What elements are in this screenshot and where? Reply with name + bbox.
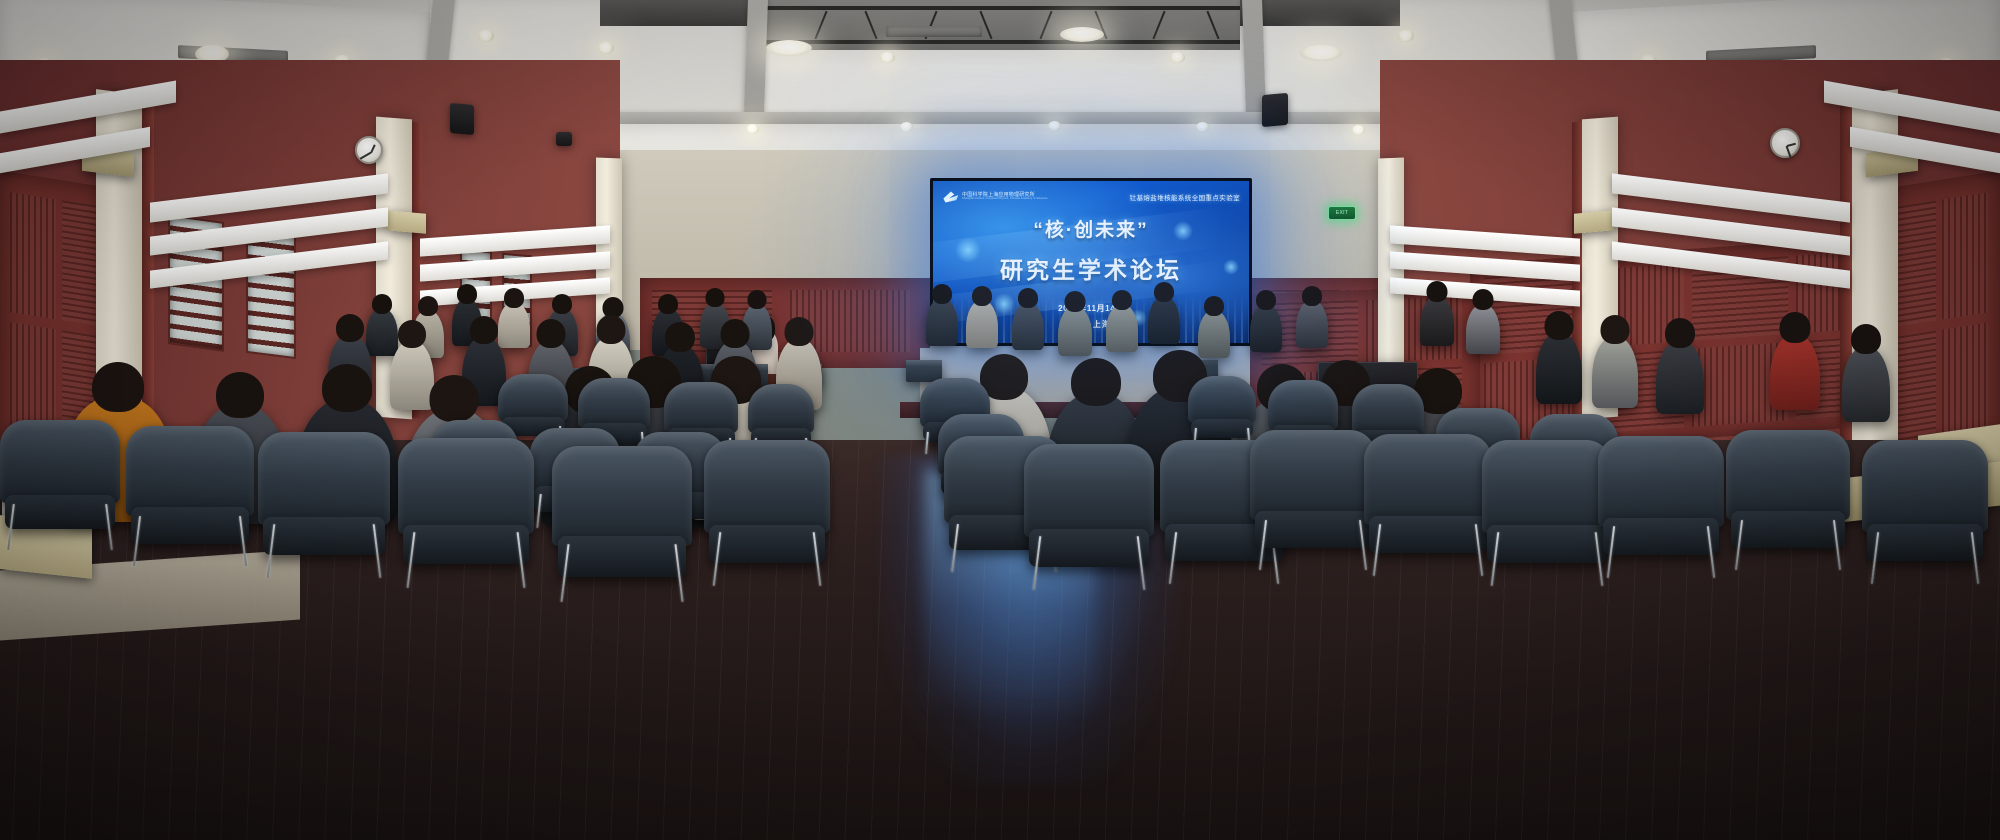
- audience-person: [390, 340, 434, 410]
- chair[interactable]: [126, 426, 254, 566]
- chair[interactable]: [552, 446, 692, 602]
- chair[interactable]: [0, 420, 120, 550]
- institute-logo-icon: [942, 191, 959, 204]
- audience-person: [1420, 296, 1454, 346]
- audience-person: [1012, 302, 1044, 350]
- screen-header: 中国科学院上海应用物理研究所 Shanghai Institute of App…: [933, 186, 1249, 208]
- audience-person: [1592, 336, 1638, 408]
- audience-person: [1058, 306, 1092, 356]
- ceiling-downlight: [1352, 125, 1365, 135]
- institute-logo: 中国科学院上海应用物理研究所 Shanghai Institute of App…: [942, 191, 1048, 204]
- forum-title: 研究生学术论坛: [933, 251, 1249, 285]
- chair[interactable]: [704, 440, 830, 586]
- ceiling-downlight: [1048, 121, 1061, 131]
- ceiling-downlight: [1060, 27, 1104, 42]
- ceiling-downlight: [1398, 30, 1414, 42]
- chair[interactable]: [1482, 440, 1612, 586]
- audience-person: [1106, 304, 1138, 352]
- ceiling-downlight: [1300, 45, 1342, 61]
- ceiling-downlight: [598, 42, 614, 54]
- audience-person: [1198, 310, 1230, 358]
- air-vent: [886, 26, 982, 37]
- wall-clock-right: [1770, 128, 1800, 158]
- audience-person: [498, 302, 530, 348]
- ceiling-downlight: [880, 52, 895, 63]
- audience-person-red-jacket: [1770, 334, 1820, 410]
- wall-clock-left: [355, 136, 383, 164]
- ceiling-speaker-left: [450, 103, 474, 135]
- chair[interactable]: [258, 432, 390, 578]
- ceiling-downlight: [746, 124, 759, 134]
- ceiling-speaker-right: [1262, 93, 1288, 127]
- chair[interactable]: [1024, 444, 1154, 590]
- ceiling-downlight: [900, 122, 913, 132]
- chair[interactable]: [1188, 376, 1256, 450]
- ceiling-downlight: [1196, 122, 1209, 132]
- audience-person: [366, 308, 398, 356]
- wall-device-left: [556, 132, 572, 146]
- chair[interactable]: [1726, 430, 1850, 570]
- audience-person: [1656, 340, 1704, 414]
- audience-person: [1536, 332, 1582, 404]
- chair[interactable]: [1250, 430, 1376, 570]
- chair[interactable]: [398, 438, 534, 588]
- exit-sign-label: EXIT: [1329, 207, 1355, 219]
- auditorium-scene: EXIT 中国科学院上海应用物理研究所 Shanghai Institute o…: [0, 0, 2000, 840]
- audience-person: [1296, 300, 1328, 348]
- forum-slogan: “核·创未来”: [933, 215, 1249, 242]
- audience-person: [1250, 304, 1282, 352]
- audience-person: [1148, 296, 1180, 344]
- ceiling-downlight: [1170, 52, 1185, 63]
- ceiling-downlight: [478, 30, 494, 42]
- emergency-exit-icon: EXIT: [1328, 206, 1356, 220]
- left-louver-window-2: [246, 229, 296, 359]
- screen-titles: “核·创未来” 研究生学术论坛: [933, 215, 1249, 285]
- ceiling-downlight: [766, 40, 812, 56]
- lab-name: 钍基熔盐堆核能系统全国重点实验室: [1130, 192, 1240, 202]
- chair[interactable]: [1364, 434, 1492, 576]
- chair[interactable]: [1598, 436, 1724, 578]
- audience-person: [1466, 304, 1500, 354]
- audience-person: [926, 298, 958, 346]
- chair[interactable]: [1862, 440, 1988, 584]
- audience-person: [966, 300, 998, 348]
- audience-person: [1842, 346, 1890, 422]
- left-wall-bracket-2: [386, 210, 426, 233]
- right-wall-bracket-2: [1574, 210, 1614, 233]
- ceiling-truss: [760, 0, 1240, 50]
- institute-name-en: Shanghai Institute of Applied Physics, C…: [962, 198, 1048, 201]
